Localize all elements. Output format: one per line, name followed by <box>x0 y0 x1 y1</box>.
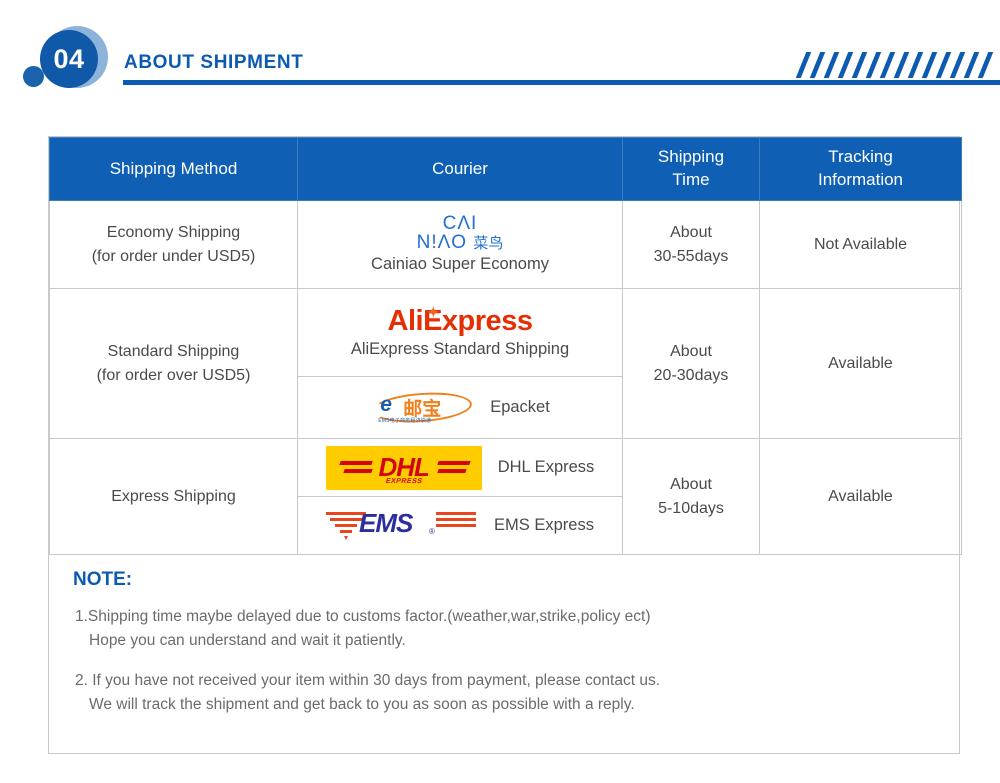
note-item-line2: We will track the shipment and get back … <box>75 693 939 717</box>
method-line1: Economy Shipping <box>50 221 297 244</box>
method-line1: Standard Shipping <box>50 340 297 363</box>
cell-tracking-information: Available <box>760 289 962 439</box>
column-header-tracking-line1: Tracking <box>760 146 961 169</box>
aliexpress-logo-text: AliExpress <box>388 305 533 337</box>
dhl-logo-subtitle: EXPRESS <box>385 478 423 485</box>
header-stripe-decoration <box>795 52 1000 78</box>
cell-shipping-time: About 30-55days <box>623 201 760 289</box>
header-stripe <box>976 52 995 78</box>
courier-caption: EMS Express <box>494 516 594 535</box>
column-header-shipping-method: Shipping Method <box>50 138 298 201</box>
cell-shipping-time: About 20-30days <box>623 289 760 439</box>
epacket-logo-e: e <box>380 393 392 417</box>
table-header-row: Shipping Method Courier Shipping Time Tr… <box>50 138 962 201</box>
table-row: Express Shipping DHL EXPRESS DHL Express <box>50 439 962 497</box>
dhl-logo: DHL EXPRESS <box>326 446 482 490</box>
header-underline <box>123 80 1000 85</box>
column-header-courier: Courier <box>298 138 623 201</box>
aliexpress-spark-icon: ✦ <box>428 305 439 319</box>
courier-caption: Epacket <box>490 398 550 417</box>
time-line2: 30-55days <box>623 245 759 268</box>
dhl-logo-text: DHL <box>378 454 428 480</box>
epacket-logo-subtitle: EMS电子商务经济快递 <box>378 417 431 424</box>
column-header-shipping-time-line2: Time <box>623 169 759 192</box>
note-title: NOTE: <box>73 569 939 591</box>
time-line1: About <box>623 221 759 244</box>
ems-bar-3 <box>436 524 476 527</box>
note-section: NOTE: 1.Shipping time maybe delayed due … <box>49 555 959 753</box>
dhl-bar-left-1 <box>339 461 372 465</box>
cainiao-logo-line2: N!ΛO 菜鸟 <box>417 234 504 253</box>
badge-number-label: 04 <box>53 46 84 73</box>
courier-caption: DHL Express <box>498 458 595 477</box>
courier-entry-aliexpress: ✦ AliExpress AliExpress Standard Shippin… <box>298 300 622 366</box>
courier-entry-dhl: DHL EXPRESS DHL Express <box>298 442 622 494</box>
courier-entry-epacket: e 邮宝 EMS电子商务经济快递 Epacket <box>298 387 622 429</box>
cell-tracking-information: Available <box>760 439 962 555</box>
method-line1: Express Shipping <box>50 485 297 508</box>
cell-courier: DHL EXPRESS DHL Express <box>298 439 623 497</box>
note-item-line2: Hope you can understand and wait it pati… <box>75 629 939 653</box>
cainiao-logo-chinese: 菜鸟 <box>473 235 503 252</box>
section-number-badge: 04 <box>18 22 128 92</box>
note-item: 2. If you have not received your item wi… <box>75 669 939 717</box>
table-row: Economy Shipping (for order under USD5) … <box>50 201 962 289</box>
page-title: ABOUT SHIPMENT <box>124 52 303 74</box>
epacket-logo: e 邮宝 EMS电子商务经济快递 <box>370 391 474 425</box>
note-item-line1: 2. If you have not received your item wi… <box>75 672 660 689</box>
courier-caption: AliExpress Standard Shipping <box>351 340 569 359</box>
badge-circle: 04 <box>40 30 98 88</box>
note-item: 1.Shipping time maybe delayed due to cus… <box>75 605 939 653</box>
dhl-bar-left-2 <box>343 469 372 473</box>
time-line2: 20-30days <box>623 364 759 387</box>
cell-shipping-method: Economy Shipping (for order under USD5) <box>50 201 298 289</box>
cell-shipping-method: Express Shipping <box>50 439 298 555</box>
courier-caption: Cainiao Super Economy <box>371 255 549 274</box>
section-header: 04 ABOUT SHIPMENT <box>0 0 1000 110</box>
cell-courier: ✦ AliExpress AliExpress Standard Shippin… <box>298 289 623 377</box>
column-header-tracking-information: Tracking Information <box>760 138 962 201</box>
shipping-table: Shipping Method Courier Shipping Time Tr… <box>49 137 962 555</box>
aliexpress-logo: ✦ AliExpress <box>388 306 533 338</box>
shipment-panel: Shipping Method Courier Shipping Time Tr… <box>48 136 960 754</box>
cainiao-logo-latin: N!ΛO <box>417 232 467 253</box>
courier-entry-ems: EMS ® EMS Express <box>298 503 622 549</box>
cell-courier: CΛI N!ΛO 菜鸟 Cainiao Super Economy <box>298 201 623 289</box>
ems-bar-1 <box>436 512 476 515</box>
dhl-bar-right-1 <box>437 461 470 465</box>
dhl-bar-right-2 <box>437 469 466 473</box>
cell-tracking-information: Not Available <box>760 201 962 289</box>
cell-shipping-time: About 5-10days <box>623 439 760 555</box>
column-header-shipping-time: Shipping Time <box>623 138 760 201</box>
cell-courier: e 邮宝 EMS电子商务经济快递 Epacket <box>298 377 623 439</box>
method-line2: (for order under USD5) <box>50 245 297 268</box>
ems-logo: EMS ® <box>326 507 478 545</box>
cainiao-logo: CΛI N!ΛO 菜鸟 <box>417 215 504 252</box>
ems-registered-icon: ® <box>429 527 435 536</box>
ems-logo-text: EMS <box>359 510 412 536</box>
time-line1: About <box>623 340 759 363</box>
method-line2: (for order over USD5) <box>50 364 297 387</box>
cell-shipping-method: Standard Shipping (for order over USD5) <box>50 289 298 439</box>
column-header-tracking-line2: Information <box>760 169 961 192</box>
column-header-shipping-time-line1: Shipping <box>623 146 759 169</box>
note-item-line1: 1.Shipping time maybe delayed due to cus… <box>75 608 651 625</box>
time-line1: About <box>623 473 759 496</box>
ems-bar-2 <box>436 518 476 521</box>
cell-courier: EMS ® EMS Express <box>298 497 623 555</box>
courier-entry-cainiao: CΛI N!ΛO 菜鸟 Cainiao Super Economy <box>298 209 622 280</box>
time-line2: 5-10days <box>623 497 759 520</box>
table-row: Standard Shipping (for order over USD5) … <box>50 289 962 377</box>
